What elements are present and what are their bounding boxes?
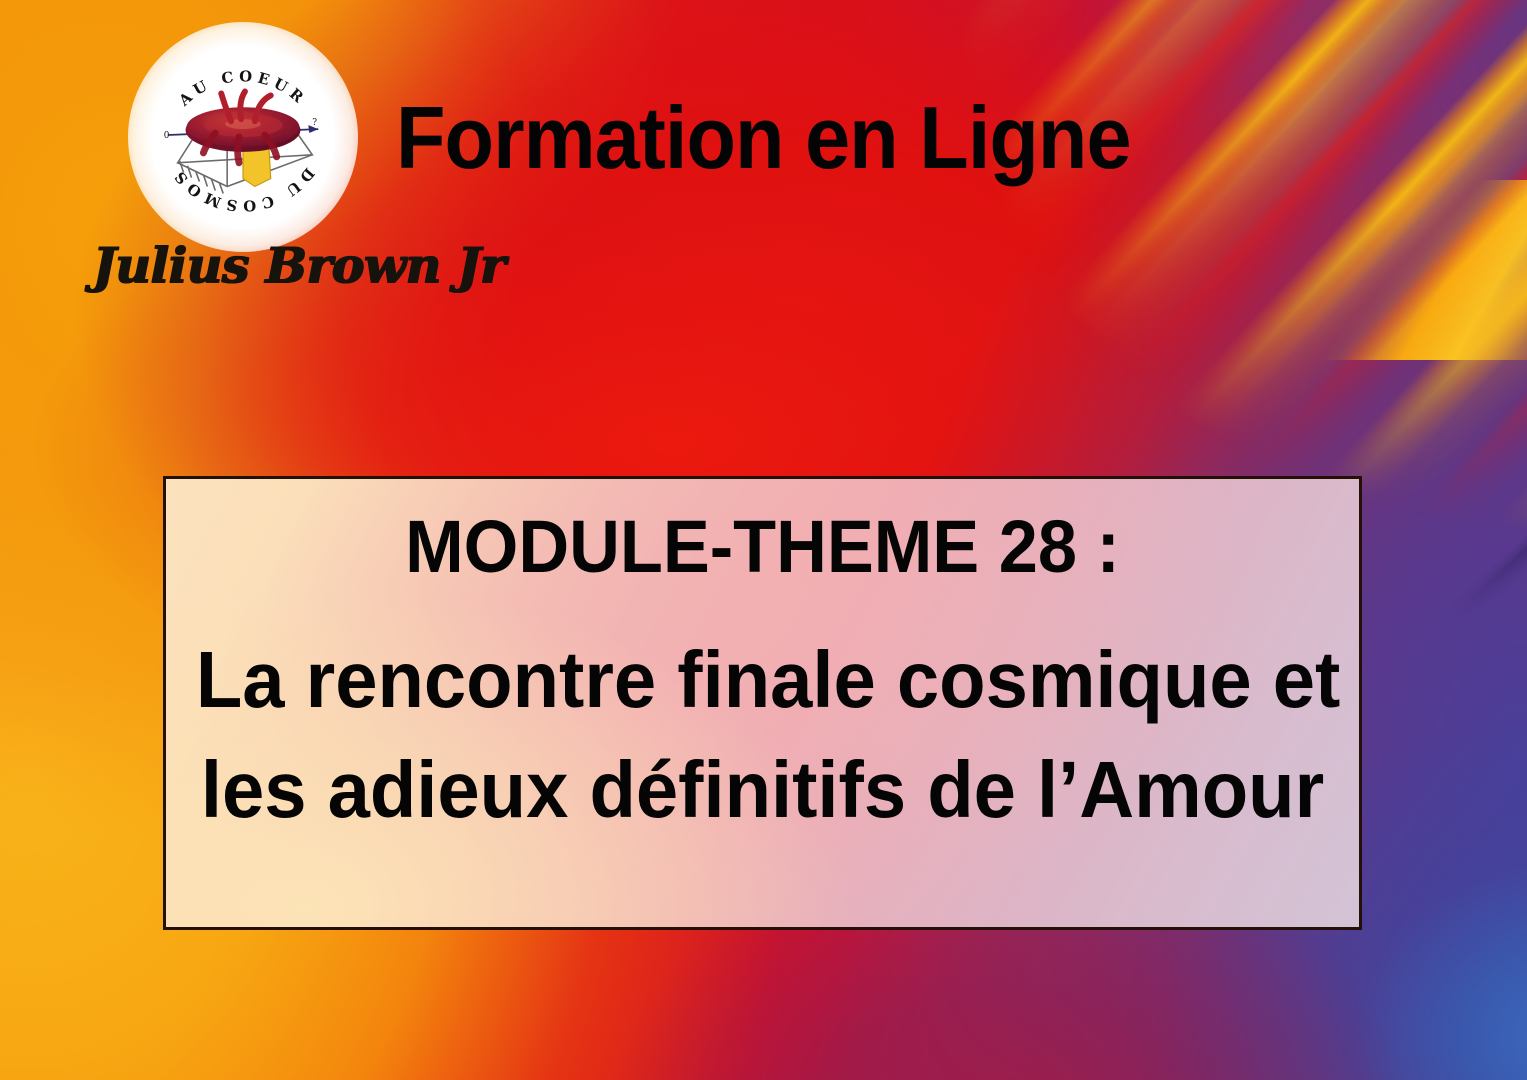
- logo-mark-icon: 0 ? AU COEUR: [144, 38, 342, 236]
- slide-canvas: 0 ? AU COEUR: [0, 0, 1527, 1080]
- svg-text:?: ?: [312, 118, 317, 128]
- content-panel: MODULE-THEME 28 : La rencontre finale co…: [163, 476, 1362, 930]
- subject-line-2: les adieux définitifs de l’Amour: [196, 741, 1329, 839]
- background-flame-streaks: [947, 0, 1527, 550]
- page-title: Formation en Ligne: [396, 92, 1131, 184]
- background-corner-amber-wedge: [1317, 180, 1527, 360]
- logo-au-coeur-du-cosmos: 0 ? AU COEUR: [144, 38, 342, 236]
- svg-text:0: 0: [164, 131, 170, 141]
- subject-line-1: La rencontre finale cosmique et: [196, 631, 1329, 729]
- signature-julius-brown-jr: Julius Brown Jr: [92, 234, 392, 296]
- module-theme-heading: MODULE-THEME 28 :: [196, 501, 1329, 593]
